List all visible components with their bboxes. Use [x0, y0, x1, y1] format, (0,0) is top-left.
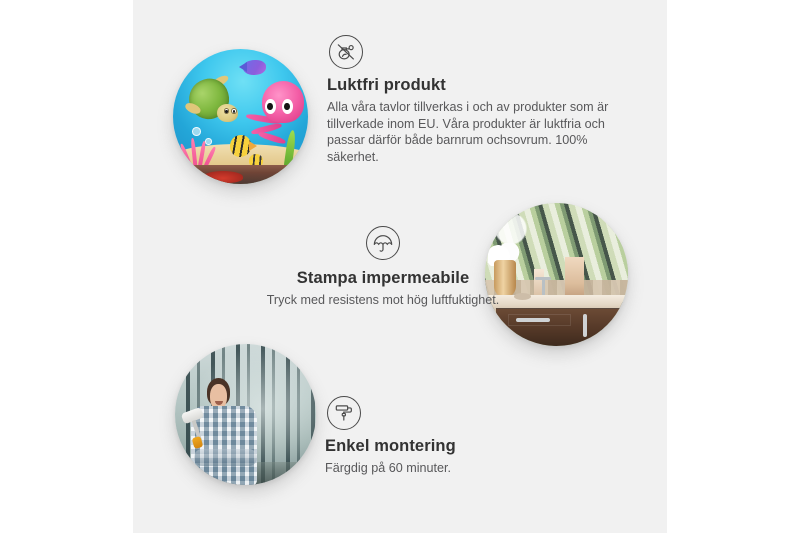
feature-easy-mounting: Enkel montering Färgdig på 60 minuter. [325, 396, 605, 477]
coral-branch [179, 143, 192, 168]
painter-person [186, 378, 265, 485]
feature-description: Färgdig på 60 minuter. [325, 460, 605, 477]
feature-icon-wrap [327, 35, 625, 69]
feature-description: Alla våra tavlor tillverkas i och av pro… [327, 99, 625, 165]
feature-odour-free: Luktfri produkt Alla våra tavlor tillver… [327, 35, 625, 165]
underwater-background [173, 49, 308, 184]
cabinet-handle [583, 314, 587, 337]
turtle-eye [231, 108, 237, 114]
roller-grip [192, 436, 204, 449]
feature-panel: Luktfri produkt Alla våra tavlor tillver… [133, 0, 667, 533]
screenshot-canvas: Luktfri produkt Alla våra tavlor tillver… [0, 0, 800, 533]
turtle-illustration [185, 76, 247, 130]
no-fragrance-icon [329, 35, 363, 69]
product-photo-painter-in-forest [175, 344, 316, 485]
octopus-eye [265, 99, 276, 114]
feature-title: Stampa impermeabile [215, 269, 551, 288]
octopus-eye [282, 99, 293, 114]
feature-icon-wrap [215, 226, 551, 260]
feature-description: Tryck med resistens mot hög luftfuktighe… [215, 292, 551, 309]
drawer-handle [516, 318, 550, 322]
product-photo-underwater-kids-scene [173, 49, 308, 184]
umbrella-icon [366, 226, 400, 260]
paint-roller-icon [327, 396, 361, 430]
paint-roller-held [182, 410, 209, 453]
photo-bottom-strip [173, 165, 308, 184]
feature-title: Luktfri produkt [327, 76, 625, 95]
wood-vanity [496, 308, 628, 346]
forest-background [175, 344, 316, 485]
towel [565, 257, 584, 294]
cabinet-handle [617, 314, 621, 337]
person-smile [215, 401, 223, 404]
blue-fish-icon [243, 60, 266, 75]
feature-icon-wrap [325, 396, 605, 430]
coral-illustration [181, 127, 222, 168]
octopus-arm [257, 131, 286, 146]
feature-waterproof: Stampa impermeabile Tryck med resistens … [215, 226, 551, 309]
feature-title: Enkel montering [325, 437, 605, 456]
octopus-illustration [249, 81, 306, 149]
